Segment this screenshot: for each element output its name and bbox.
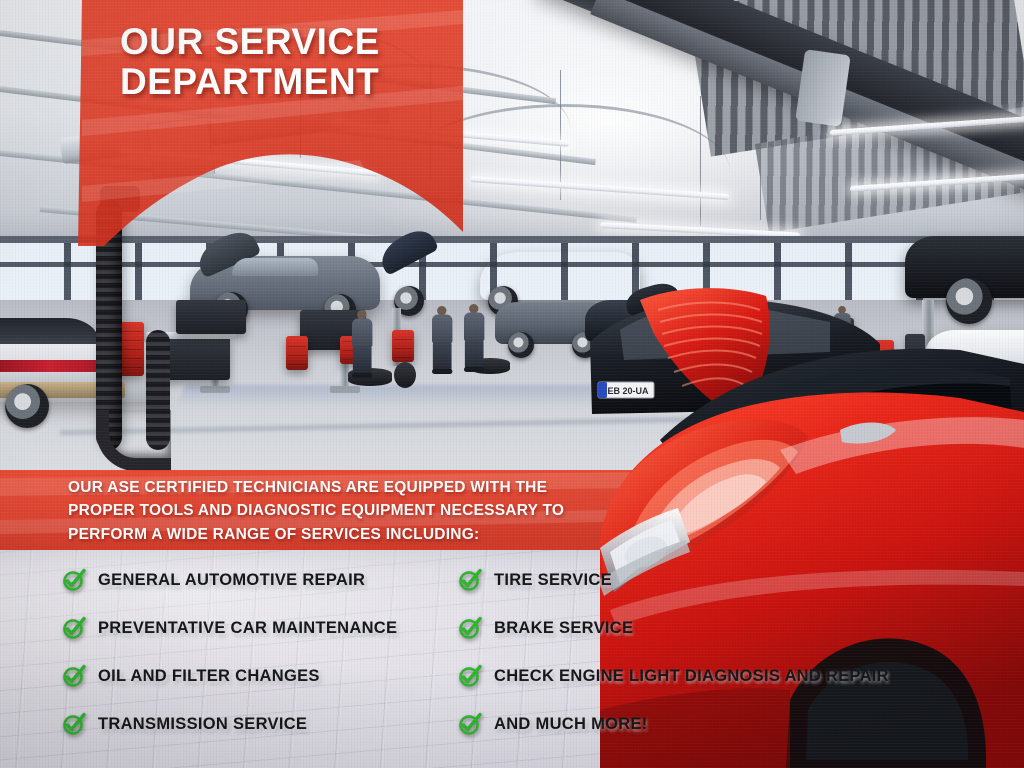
tire (394, 362, 416, 388)
check-circle-icon (458, 568, 482, 592)
services-right-column: TIRE SERVICE BRAKE SERVICE (458, 556, 998, 748)
hanger-rod (700, 96, 701, 226)
hanger-rod (760, 100, 761, 220)
service-department-poster: EB 20-UA OUR SERVICE DEPARTMENT (0, 0, 1024, 768)
car-wheel (508, 332, 534, 358)
check-circle-icon (458, 616, 482, 640)
service-label: CHECK ENGINE LIGHT DIAGNOSIS AND REPAIR (494, 667, 889, 686)
car-wheel (5, 384, 49, 428)
title-line-1: OUR SERVICE (120, 22, 450, 62)
services-checklist: GENERAL AUTOMOTIVE REPAIR PREVENTATIVE C… (0, 556, 1024, 736)
equipment-box (176, 300, 246, 334)
silver-car-roof (0, 318, 100, 344)
service-item[interactable]: BRAKE SERVICE (458, 604, 998, 652)
service-item[interactable]: PREVENTATIVE CAR MAINTENANCE (62, 604, 462, 652)
red-tool-cabinet (392, 330, 414, 362)
check-circle-icon (458, 712, 482, 736)
service-label: TIRE SERVICE (494, 571, 612, 590)
title-line-2: DEPARTMENT (120, 62, 450, 102)
service-item[interactable]: TIRE SERVICE (458, 556, 998, 604)
lift-base (200, 386, 230, 393)
check-circle-icon (62, 712, 86, 736)
service-item[interactable]: TRANSMISSION SERVICE (62, 700, 462, 748)
check-circle-icon (62, 568, 86, 592)
hanger-rod (560, 70, 561, 200)
service-label: GENERAL AUTOMOTIVE REPAIR (98, 571, 365, 590)
service-label: PREVENTATIVE CAR MAINTENANCE (98, 619, 397, 638)
check-circle-icon (62, 616, 86, 640)
service-item[interactable]: OIL AND FILTER CHANGES (62, 652, 462, 700)
ventilation-duct-box (147, 116, 216, 181)
window-header (0, 236, 1024, 243)
service-label: BRAKE SERVICE (494, 619, 633, 638)
page-title: OUR SERVICE DEPARTMENT (120, 22, 450, 102)
red-tool-cabinet (286, 336, 308, 370)
services-left-column: GENERAL AUTOMOTIVE REPAIR PREVENTATIVE C… (62, 556, 462, 748)
check-circle-icon (62, 664, 86, 688)
lift-base (330, 386, 360, 393)
service-label: AND MUCH MORE! (494, 715, 648, 734)
service-item[interactable]: GENERAL AUTOMOTIVE REPAIR (62, 556, 462, 604)
service-label: OIL AND FILTER CHANGES (98, 667, 320, 686)
car-window (232, 258, 318, 276)
exhaust-extraction-hose (146, 330, 170, 450)
service-item[interactable]: AND MUCH MORE! (458, 700, 998, 748)
subtitle-text: OUR ASE CERTIFIED TECHNICIANS ARE EQUIPP… (68, 476, 608, 546)
service-item[interactable]: CHECK ENGINE LIGHT DIAGNOSIS AND REPAIR (458, 652, 998, 700)
service-label: TRANSMISSION SERVICE (98, 715, 307, 734)
check-circle-icon (458, 664, 482, 688)
